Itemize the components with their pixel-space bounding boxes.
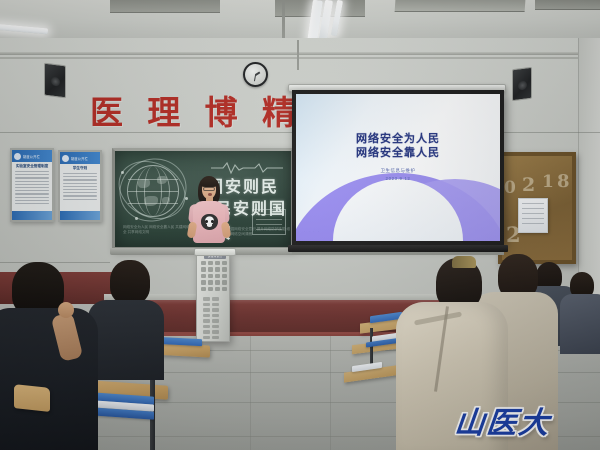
- lecture-podium: 多媒体讲台: [196, 252, 230, 342]
- wall-poster-2: 制度公开栏 学生守则: [58, 150, 102, 222]
- motto-char-1: 医: [90, 96, 123, 129]
- speaker-cone-icon: [518, 80, 527, 90]
- chalk-spark: [135, 217, 138, 220]
- blackboard-note-left: 网络安全为人民 网络安全靠人民 共建网络安全 共享网络文明: [123, 225, 195, 235]
- presenter-arm-right: [221, 221, 232, 238]
- poster-body: [60, 172, 100, 203]
- motto-char-3: 博: [205, 96, 238, 129]
- student-far-right-2: [566, 272, 600, 342]
- student-front-left: [0, 262, 104, 450]
- poster-footer: [12, 211, 52, 220]
- slide-subtitle: 卫生信息与维护: [296, 167, 500, 174]
- presenter-bangs: [200, 178, 218, 187]
- chair-backrest: [14, 384, 50, 412]
- student-hand: [58, 302, 74, 318]
- shirt-panda-graphic-icon: [201, 214, 218, 230]
- board-mark: 1: [542, 172, 554, 192]
- slide-canvas: 网络安全为人民 网络安全靠人民 卫生信息与维护 2023.9.12 · · · …: [296, 94, 500, 241]
- poster-title: 实验室安全管理制度: [12, 162, 52, 170]
- motto-char-4: 精: [262, 96, 295, 129]
- poster-header: 制度公开栏: [12, 150, 52, 162]
- wall-conduit: [0, 57, 600, 59]
- ceiling-panel: [535, 0, 600, 10]
- poster-header-text: 制度公开栏: [71, 156, 88, 161]
- student-torso: [560, 294, 600, 354]
- ceiling-panel: [395, 0, 526, 12]
- hair-clip: [452, 256, 476, 268]
- slide-title-line-1: 网络安全为人民: [296, 132, 500, 146]
- student-shirt: [0, 308, 98, 450]
- poster-body: [12, 170, 52, 207]
- wall-motto: 医 理 博 精: [90, 90, 295, 134]
- slide-date: 2023.9.12: [296, 175, 500, 182]
- presenter-glasses-icon: [203, 187, 215, 191]
- poster-footer: [60, 211, 100, 220]
- wall-speaker-right: [512, 67, 532, 101]
- blackboard-chalk-box: [252, 209, 286, 235]
- wall-poster-1: 制度公开栏 实验室安全管理制度: [10, 148, 54, 222]
- student-jacket: [396, 302, 508, 450]
- ceiling-panel: [110, 0, 220, 13]
- wall-speaker-left: [44, 63, 66, 99]
- poster-header: 制度公开栏: [60, 152, 100, 164]
- presenter-mouth: [208, 193, 212, 196]
- slide-title-line-2: 网络安全靠人民: [296, 146, 500, 160]
- podium-vent-grid: [201, 261, 227, 291]
- institution-logo-icon: [14, 153, 21, 160]
- board-notice-paper: [518, 198, 548, 233]
- slide-text-block: 网络安全为人民 网络安全靠人民 卫生信息与维护 2023.9.12: [296, 132, 500, 182]
- chalk-spark: [121, 171, 124, 174]
- board-mark: 0: [504, 178, 516, 198]
- ceiling: [0, 0, 600, 38]
- clock-minute-hand: [254, 74, 256, 81]
- institution-logo-icon: [62, 155, 69, 162]
- speaker-cone-icon: [51, 77, 60, 87]
- board-mark: 2: [522, 174, 535, 196]
- student-hair: [110, 260, 150, 304]
- board-mark: 8: [557, 171, 570, 192]
- desk-leg: [370, 328, 373, 368]
- presenter-speaker: [186, 176, 232, 256]
- poster-header-text: 制度公开栏: [23, 154, 40, 159]
- wall-column: [578, 38, 600, 300]
- podium-vent-grid-lower: [203, 297, 219, 339]
- motto-char-2: 理: [147, 96, 180, 129]
- bulletin-board: 0 2 1 8 2: [498, 152, 576, 264]
- projector-screen-weight-bar: [288, 245, 508, 252]
- poster-title: 学生守则: [60, 164, 100, 172]
- wall-conduit: [0, 52, 600, 55]
- wall-clock: [243, 62, 268, 87]
- wall-conduit-drop: [297, 40, 299, 70]
- classroom-photo: 医 理 博 精 制度公开栏 实验室安全管理制度 制度公开栏 学生守则: [0, 0, 600, 450]
- projector-screen: 网络安全为人民 网络安全靠人民 卫生信息与维护 2023.9.12 · · · …: [292, 90, 504, 245]
- slide-footer-dots: · · · ·: [304, 229, 320, 233]
- student-right-beige: [396, 258, 508, 450]
